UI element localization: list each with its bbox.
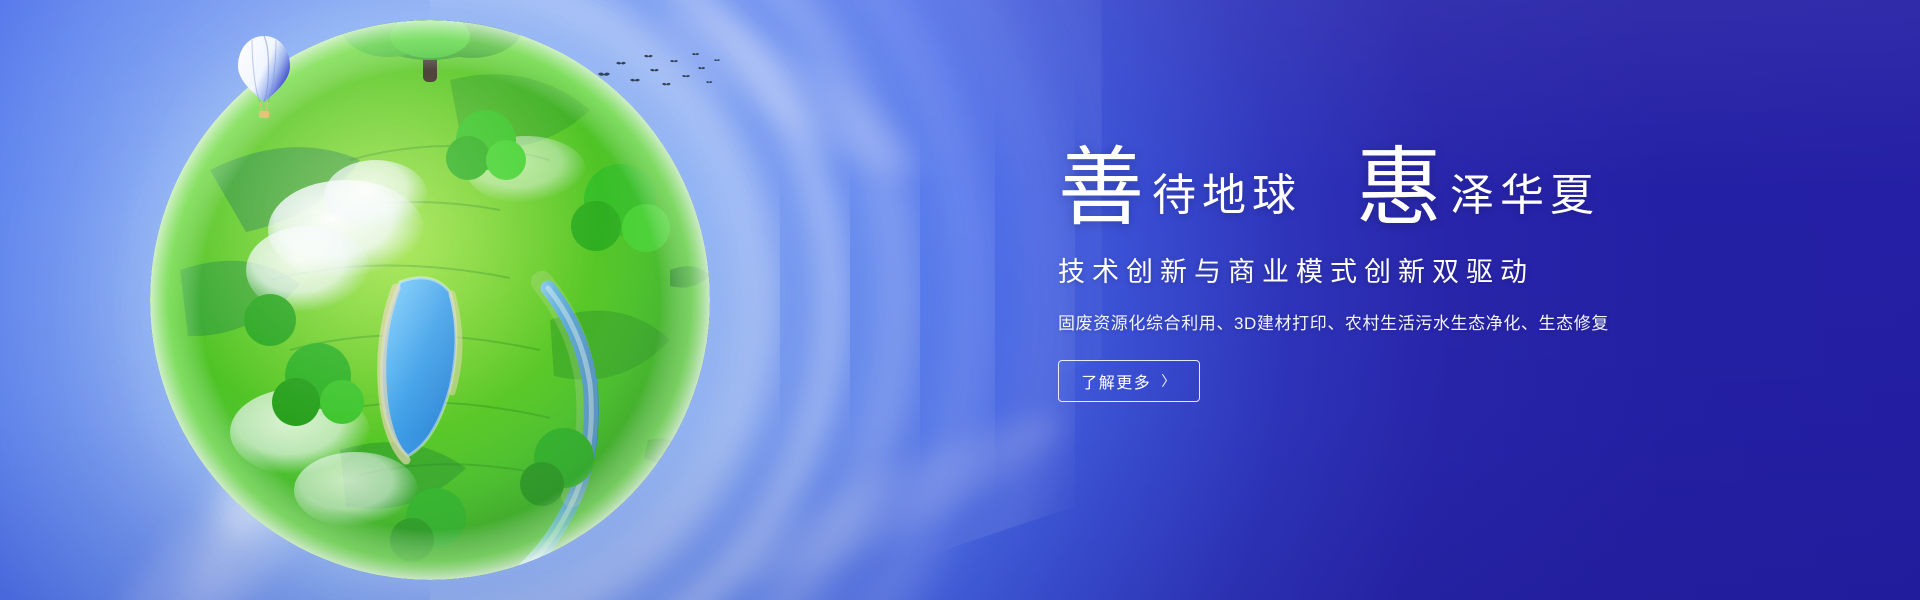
headline-rest-2: 泽华夏 <box>1442 174 1600 228</box>
learn-more-button[interactable]: 了解更多 〉 <box>1058 360 1200 402</box>
bird-flock-icon <box>594 48 724 98</box>
tiny-planet-earth <box>150 20 710 580</box>
headline-rest-1: 待地球 <box>1144 174 1302 228</box>
chevron-right-icon: 〉 <box>1161 371 1177 391</box>
hero-text-panel: 善 待地球 惠 泽华夏 技术创新与商业模式创新双驱动 固废资源化综合利用、3D建… <box>1058 136 1818 402</box>
learn-more-label: 了解更多 <box>1081 369 1151 393</box>
hero-subtitle: 技术创新与商业模式创新双驱动 <box>1058 250 1818 289</box>
headline-lead-1: 善 <box>1058 149 1144 228</box>
hero-description: 固废资源化综合利用、3D建材打印、农村生活污水生态净化、生态修复 <box>1058 309 1818 334</box>
headline-lead-2: 惠 <box>1356 149 1442 228</box>
hot-air-balloon-icon <box>236 34 292 120</box>
page-title: 善 待地球 惠 泽华夏 <box>1058 136 1818 228</box>
hero-banner: 善 待地球 惠 泽华夏 技术创新与商业模式创新双驱动 固废资源化综合利用、3D建… <box>0 0 1920 600</box>
